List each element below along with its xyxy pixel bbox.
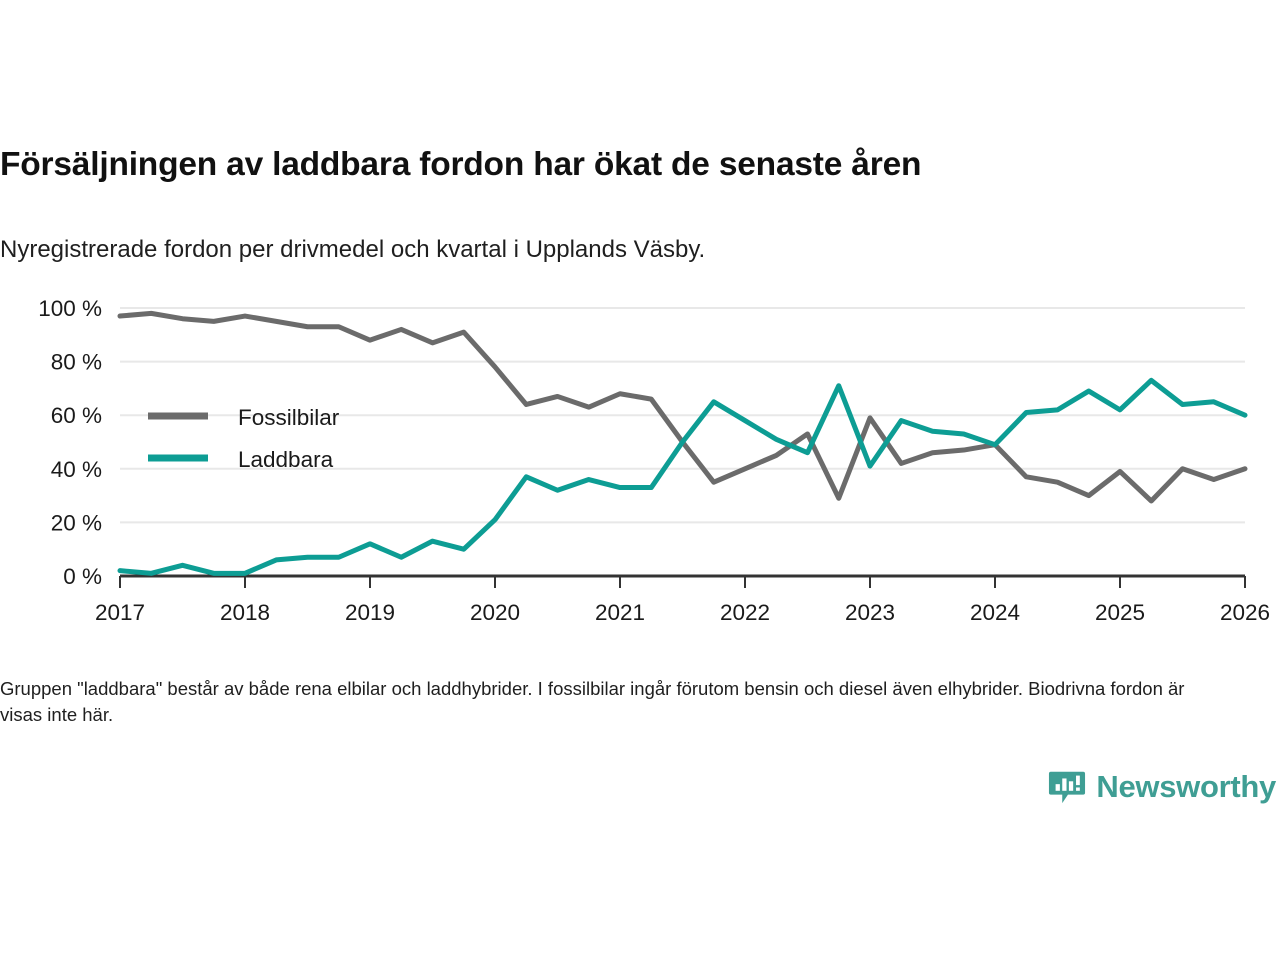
x-axis-ticks xyxy=(120,576,1245,588)
x-axis-tick-labels: 2017201820192020202120222023202420252026 xyxy=(95,600,1270,625)
legend-label: Fossilbilar xyxy=(238,405,340,430)
chart-legend: FossilbilarLaddbara xyxy=(148,405,340,472)
page-title: Försäljningen av laddbara fordon har öka… xyxy=(0,146,921,184)
y-tick-label: 20 % xyxy=(51,510,102,535)
x-tick-label: 2022 xyxy=(720,600,770,625)
chart-svg: 0 %20 %40 %60 %80 %100 % 201720182019202… xyxy=(0,288,1280,628)
chart-footnote: Gruppen "laddbara" består av både rena e… xyxy=(0,676,1215,729)
x-tick-label: 2019 xyxy=(345,600,395,625)
x-tick-label: 2026 xyxy=(1220,600,1270,625)
y-tick-label: 0 % xyxy=(63,564,102,589)
y-tick-label: 40 % xyxy=(51,457,102,482)
x-tick-label: 2017 xyxy=(95,600,145,625)
y-tick-label: 100 % xyxy=(38,296,102,321)
x-tick-label: 2024 xyxy=(970,600,1020,625)
y-axis-tick-labels: 0 %20 %40 %60 %80 %100 % xyxy=(38,296,102,589)
x-tick-label: 2023 xyxy=(845,600,895,625)
y-tick-label: 60 % xyxy=(51,403,102,428)
newsworthy-logo: Newsworthy xyxy=(1048,768,1276,806)
brand-name: Newsworthy xyxy=(1096,769,1276,805)
x-tick-label: 2021 xyxy=(595,600,645,625)
x-tick-label: 2025 xyxy=(1095,600,1145,625)
newsworthy-bubble-bars-icon xyxy=(1048,768,1086,806)
chart-page: Försäljningen av laddbara fordon har öka… xyxy=(0,0,1280,960)
legend-label: Laddbara xyxy=(238,447,334,472)
page-subtitle: Nyregistrerade fordon per drivmedel och … xyxy=(0,236,705,264)
x-tick-label: 2018 xyxy=(220,600,270,625)
line-chart: 0 %20 %40 %60 %80 %100 % 201720182019202… xyxy=(0,288,1280,628)
x-tick-label: 2020 xyxy=(470,600,520,625)
chart-series-lines xyxy=(120,313,1245,573)
y-tick-label: 80 % xyxy=(51,350,102,375)
